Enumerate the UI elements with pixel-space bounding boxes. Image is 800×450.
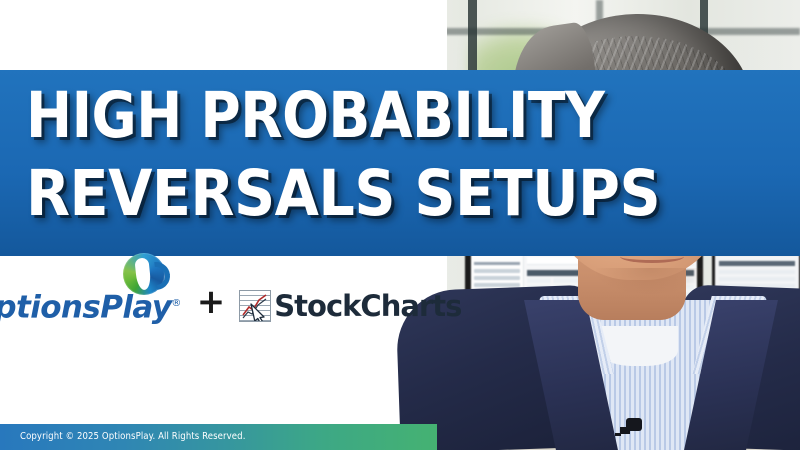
copyright-text: Copyright © 2025 OptionsPlay. All Rights… — [20, 431, 246, 443]
stockcharts-logo: StockCharts — [239, 290, 461, 324]
plus-separator: + — [197, 282, 226, 324]
logo-lockup: OptionsPlay® + StockCharts — [0, 282, 430, 324]
optionsplay-wordmark-text: OptionsPlay — [0, 289, 171, 325]
registered-trademark-icon: ® — [171, 298, 180, 309]
title-band: HIGH PROBABILITY REVERSALS SETUPS — [0, 70, 800, 256]
title-line-1: HIGH PROBABILITY — [26, 84, 604, 148]
title-line-2: REVERSALS SETUPS — [26, 162, 660, 226]
chin-shadow — [596, 268, 704, 294]
stockcharts-grid-cursor-icon — [239, 290, 271, 322]
undershirt — [600, 326, 678, 366]
stockcharts-wordmark: StockCharts — [274, 291, 461, 321]
lavalier-microphone-icon — [626, 418, 642, 431]
video-thumbnail: HIGH PROBABILITY REVERSALS SETUPS Option… — [0, 0, 800, 450]
optionsplay-logo: OptionsPlay® — [0, 287, 183, 324]
optionsplay-wordmark: OptionsPlay® — [0, 287, 181, 324]
